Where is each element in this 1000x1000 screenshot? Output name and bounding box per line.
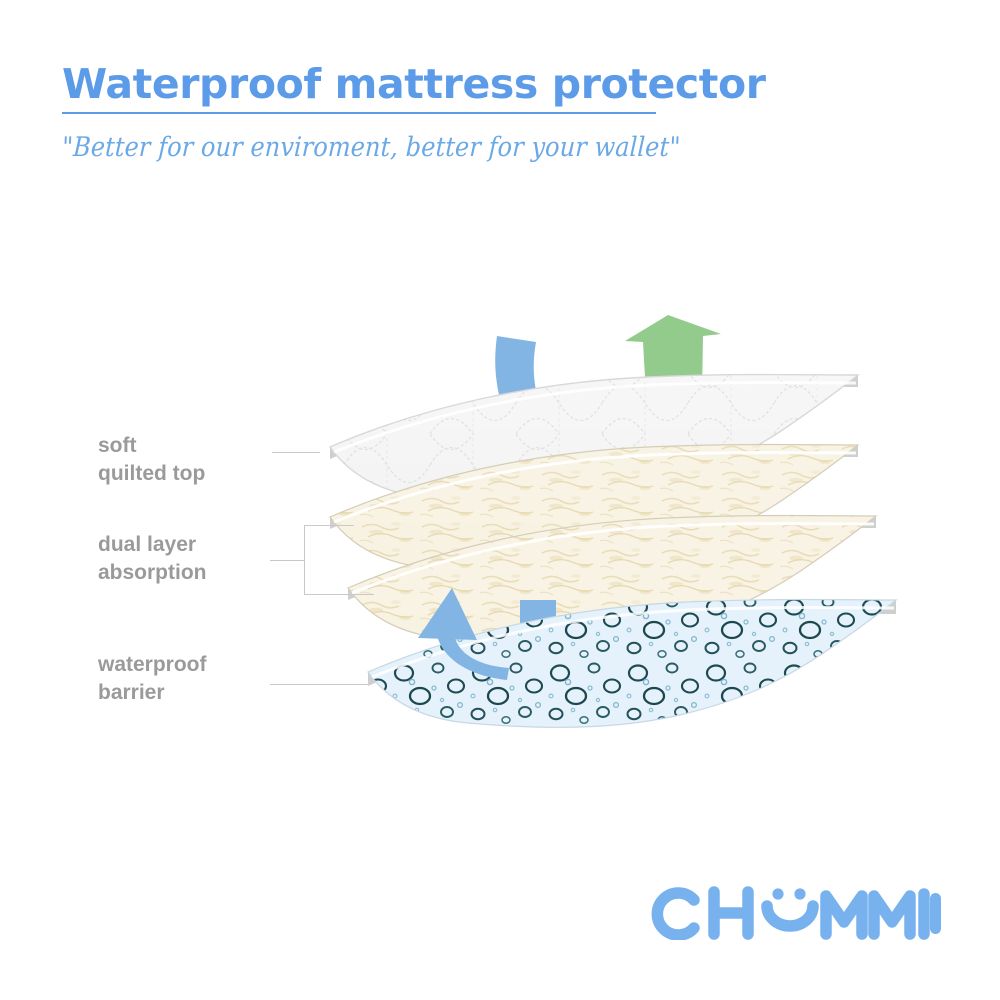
bracket-arm-upper xyxy=(328,525,354,526)
air-up-arrow xyxy=(625,315,721,690)
leader-line-dual-layer-absorption xyxy=(270,560,305,561)
layer-absorbent-lower xyxy=(320,500,920,660)
label-soft-quilted-top: soft quilted top xyxy=(98,432,205,487)
layer-quilted-top xyxy=(300,360,900,520)
layer-waterproof-barrier xyxy=(340,585,940,745)
page-subtitle: "Better for our enviroment, better for y… xyxy=(61,132,942,163)
liquid-down-arrow-head xyxy=(486,600,590,690)
header: Waterproof mattress protector "Better fo… xyxy=(62,62,942,161)
logo-smiley-eye-right xyxy=(794,888,805,899)
page-title: Waterproof mattress protector xyxy=(62,62,942,106)
layer-absorbent-upper xyxy=(300,430,900,590)
leader-line-waterproof-barrier xyxy=(270,684,368,685)
logo-letter-e xyxy=(930,893,941,934)
liquid-down-arrow-shaft xyxy=(495,336,556,640)
title-underline-rule xyxy=(62,112,656,114)
logo-smiley-eye-left xyxy=(772,888,783,899)
label-waterproof-barrier: waterproof barrier xyxy=(98,651,207,706)
bracket-dual-layer xyxy=(304,525,328,595)
label-dual-layer-absorption: dual layer absorption xyxy=(98,531,207,586)
chummie-logo-mark xyxy=(650,882,942,940)
leader-line-soft-quilted-top xyxy=(272,452,320,453)
bracket-arm-lower xyxy=(328,594,374,595)
liquid-wick-arrow xyxy=(418,588,509,680)
brand-logo: CHUMMIE xyxy=(650,882,942,940)
